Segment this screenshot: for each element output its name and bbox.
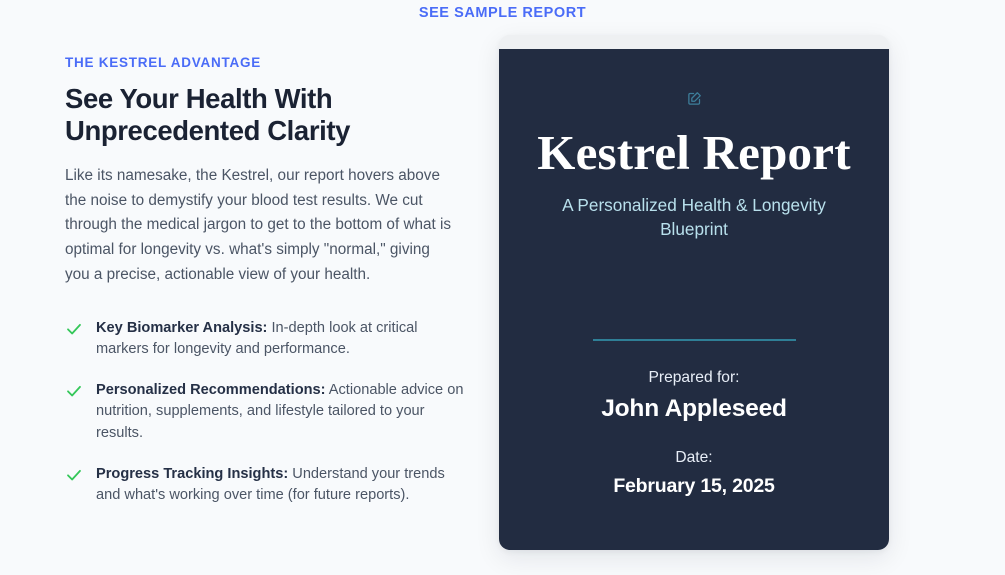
prepared-for-name: John Appleseed bbox=[533, 394, 855, 423]
check-icon bbox=[65, 382, 83, 400]
date-value: February 15, 2025 bbox=[533, 475, 855, 498]
intro-paragraph: Like its namesake, the Kestrel, our repo… bbox=[65, 164, 455, 288]
page-title: See Your Health With Unprecedented Clari… bbox=[65, 83, 365, 146]
list-item: Key Biomarker Analysis: In-depth look at… bbox=[65, 318, 465, 361]
advantage-section: THE KESTREL ADVANTAGE See Your Health Wi… bbox=[65, 55, 465, 507]
date-label: Date: bbox=[533, 448, 855, 468]
list-item: Progress Tracking Insights: Understand y… bbox=[65, 464, 465, 507]
list-item-term: Key Biomarker Analysis: bbox=[96, 320, 267, 336]
report-cover: Kestrel Report A Personalized Health & L… bbox=[499, 49, 889, 550]
list-item-text: Personalized Recommendations: Actionable… bbox=[96, 380, 465, 445]
feature-list: Key Biomarker Analysis: In-depth look at… bbox=[65, 318, 465, 507]
report-preview-card[interactable]: Kestrel Report A Personalized Health & L… bbox=[499, 35, 889, 550]
list-item-term: Personalized Recommendations: bbox=[96, 382, 326, 398]
list-item-text: Key Biomarker Analysis: In-depth look at… bbox=[96, 318, 465, 361]
card-divider bbox=[593, 339, 796, 341]
list-item-term: Progress Tracking Insights: bbox=[96, 466, 288, 482]
edit-square-icon bbox=[687, 91, 702, 106]
prepared-for-label: Prepared for: bbox=[533, 368, 855, 388]
page-root: SEE SAMPLE REPORT THE KESTREL ADVANTAGE … bbox=[0, 0, 1005, 575]
report-subtitle: A Personalized Health & Longevity Bluepr… bbox=[533, 193, 855, 241]
section-eyebrow: THE KESTREL ADVANTAGE bbox=[65, 55, 465, 71]
list-item: Personalized Recommendations: Actionable… bbox=[65, 380, 465, 445]
card-chrome-bar bbox=[499, 35, 889, 49]
see-sample-report-link[interactable]: SEE SAMPLE REPORT bbox=[419, 5, 586, 21]
report-title: Kestrel Report bbox=[533, 128, 855, 179]
check-icon bbox=[65, 466, 83, 484]
check-icon bbox=[65, 320, 83, 338]
sample-report-link-row: SEE SAMPLE REPORT bbox=[0, 0, 1005, 22]
list-item-text: Progress Tracking Insights: Understand y… bbox=[96, 464, 465, 507]
